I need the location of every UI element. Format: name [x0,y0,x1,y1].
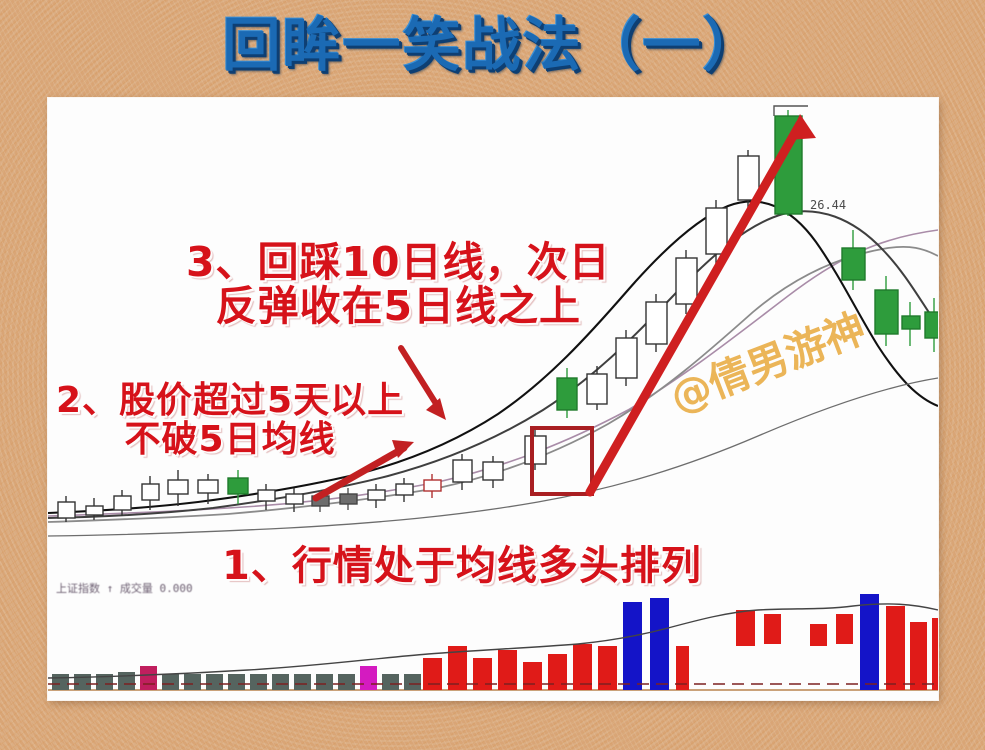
price-label: 26.44 [810,198,846,212]
candle [58,496,75,522]
candle [525,428,546,470]
candle [114,490,131,516]
candle [925,298,938,352]
candle [875,276,898,346]
candle [616,330,637,386]
annotation-rule-3: 3、回踩10日线，次日 反弹收在5日线之上 [186,240,611,329]
candle [483,456,503,488]
page-title: 回眸一笑战法（一） [0,16,985,74]
candle [340,488,357,510]
candle [842,230,865,290]
candle [587,366,607,410]
candle [902,302,920,346]
candle [557,368,577,418]
annotation-rule-1: 1、行情处于均线多头排列 [222,545,702,588]
volume-bars-main [423,594,938,690]
volume-panel [48,594,938,690]
candle [396,478,413,502]
candle [168,470,188,506]
candle [368,484,385,508]
pullback-arrow [401,348,446,420]
candle [646,294,667,352]
volume-bars-early [52,666,421,690]
candle [424,474,441,498]
status-readout: 上证指数 ↑ 成交量 0.000 [56,580,193,596]
volume-ma-line [48,604,938,678]
candle [142,476,159,510]
price-tag-bracket [774,106,808,116]
slide-canvas: 回眸一笑战法（一） [0,0,985,750]
annotation-rule-2: 2、股价超过5天以上 不破5日均线 [56,382,404,460]
candle [228,470,248,504]
